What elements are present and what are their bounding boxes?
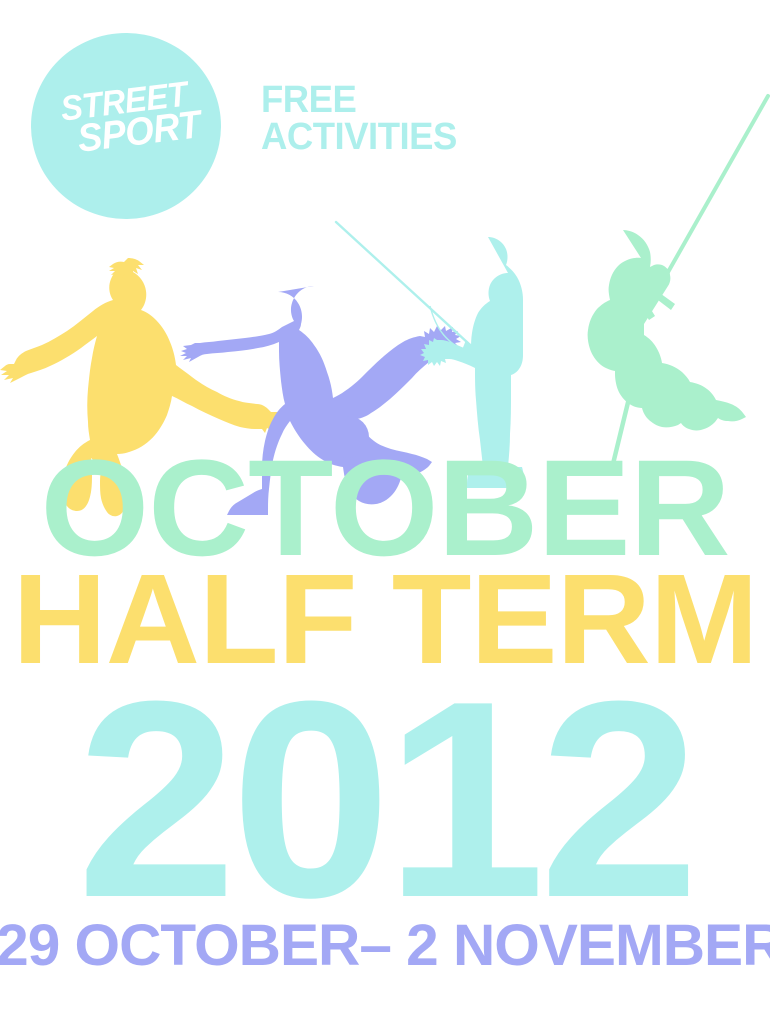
logo-wordmark: STREET SPORT [31,76,221,162]
headline-dates: 29 OCTOBER– 2 NOVEMBER [0,917,770,975]
poster-canvas: STREET SPORT FREE ACTIVITIES [0,0,770,1024]
tagline-line-free: FREE [261,82,457,119]
abseiler-figure [588,96,768,468]
street-sport-logo[interactable]: STREET SPORT [31,33,221,219]
free-activities-tagline: FREE ACTIVITIES [261,82,465,156]
tagline-line-activities: ACTIVITIES [261,119,457,156]
fishing-line [430,306,468,352]
climbing-rope-upper [659,96,768,288]
fishing-rod [336,222,468,343]
headline-year: 2012 [0,660,770,940]
